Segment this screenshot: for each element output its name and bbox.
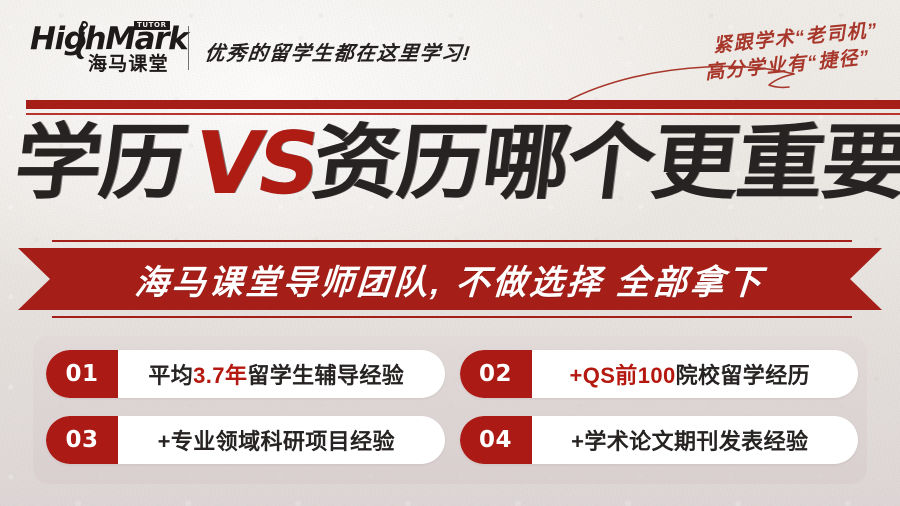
brand-logo: HighMark TUTOR 海马课堂 — [30, 22, 180, 78]
header-divider — [188, 26, 189, 70]
headline-part-2: 资历哪个更重要 — [308, 123, 900, 205]
header-tagline: 优秀的留学生都在这里学习! — [203, 37, 472, 66]
ribbon-banner: 海马课堂导师团队, 不做选择 全部拿下 — [0, 238, 900, 320]
headline-rule-thick — [26, 100, 900, 109]
header-slogan: 紧跟学术“老司机” 高分学业有“捷径” — [578, 18, 878, 88]
feature-number-badge: 03 — [46, 416, 118, 464]
feature-item-01: 01 平均3.7年留学生辅导经验 — [46, 350, 445, 398]
ribbon-text: 海马课堂导师团队, 不做选择 全部拿下 — [134, 255, 767, 304]
feature-number-badge: 01 — [46, 350, 118, 398]
banner-header: HighMark TUTOR 海马课堂 优秀的留学生都在这里学习! 紧跟学术“老… — [0, 0, 900, 96]
feature-label: +QS前100院校留学经历 — [532, 358, 859, 390]
page-title: 学历 VS 资历哪个更重要 — [20, 118, 890, 210]
feature-item-02: 02 +QS前100院校留学经历 — [460, 350, 859, 398]
feature-label: +学术论文期刊发表经验 — [532, 424, 859, 456]
feature-item-04: 04 +学术论文期刊发表经验 — [460, 416, 859, 464]
feature-text-after: 留学生辅导经验 — [247, 363, 404, 388]
feature-item-03: 03 +专业领域科研项目经验 — [46, 416, 445, 464]
headline-rule-thin — [26, 113, 900, 115]
feature-text-before: 平均 — [148, 363, 193, 388]
ribbon-shape: 海马课堂导师团队, 不做选择 全部拿下 — [18, 248, 882, 310]
headline-vs: VS — [189, 121, 321, 207]
promo-banner: HighMark TUTOR 海马课堂 优秀的留学生都在这里学习! 紧跟学术“老… — [0, 0, 900, 506]
feature-text-before: +学术论文期刊发表经验 — [571, 429, 808, 454]
feature-label: +专业领域科研项目经验 — [118, 424, 445, 456]
feature-text-after: 院校留学经历 — [676, 363, 810, 388]
features-grid: 01 平均3.7年留学生辅导经验 02 +QS前100院校留学经历 03 +专业… — [46, 350, 858, 472]
feature-number-badge: 04 — [460, 416, 532, 464]
logo-chinese-name: 海马课堂 — [88, 55, 169, 74]
feature-label: 平均3.7年留学生辅导经验 — [118, 358, 445, 390]
feature-number-badge: 02 — [460, 350, 532, 398]
logo-tutor-badge: TUTOR — [134, 21, 170, 30]
headline-part-1: 学历 — [10, 123, 190, 205]
feature-text-highlight: 3.7年 — [193, 363, 247, 388]
feature-text-highlight: +QS前100 — [569, 363, 675, 388]
ribbon-rule-top — [52, 240, 852, 242]
feature-text-before: +专业领域科研项目经验 — [158, 429, 395, 454]
ribbon-rule-bottom — [52, 316, 852, 318]
